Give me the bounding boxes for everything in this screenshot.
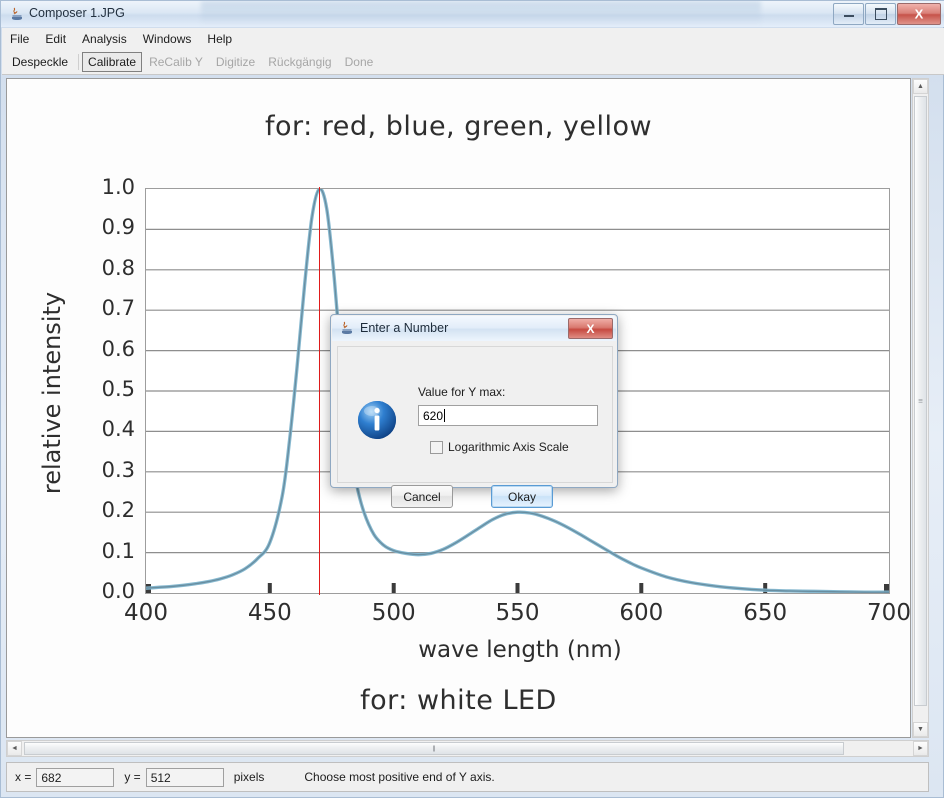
window-titlebar[interactable]: Composer 1.JPG X — [1, 1, 944, 27]
y-tick-label: 0.2 — [89, 498, 135, 522]
window-controls: X — [832, 3, 941, 24]
info-icon — [356, 399, 398, 441]
vertical-scroll-thumb[interactable]: ≡ — [914, 96, 927, 706]
toolbar-despeckle[interactable]: Despeckle — [6, 52, 74, 72]
y-tick-label: 0.3 — [89, 458, 135, 482]
x-coord-field[interactable]: 682 — [36, 768, 114, 787]
text-caret — [444, 409, 445, 422]
toolbar-done[interactable]: Done — [339, 52, 380, 72]
cancel-button[interactable]: Cancel — [391, 485, 453, 508]
y-tick-label: 0.7 — [89, 296, 135, 320]
titlebar-glass — [201, 1, 761, 27]
menu-help[interactable]: Help — [200, 30, 239, 48]
okay-button[interactable]: Okay — [491, 485, 553, 508]
toolbar: Despeckle Calibrate ReCalib Y Digitize R… — [2, 49, 944, 75]
units-label: pixels — [234, 770, 265, 784]
scroll-left-button[interactable]: ◄ — [7, 741, 22, 756]
log-axis-checkbox[interactable] — [430, 441, 443, 454]
y-tick-label: 0.6 — [89, 337, 135, 361]
maximize-icon — [875, 8, 887, 20]
x-coord-label: x = — [15, 770, 31, 784]
vertical-scrollbar[interactable]: ▲ ≡ ▼ — [912, 78, 929, 738]
minimize-button[interactable] — [833, 3, 864, 25]
scroll-right-button[interactable]: ► — [913, 741, 928, 756]
scroll-grip-icon: ‖ — [432, 744, 435, 753]
x-tick-label: 600 — [601, 600, 681, 626]
status-bar: x = 682 y = 512 pixels Choose most posit… — [6, 762, 929, 792]
toolbar-separator — [78, 54, 79, 70]
scroll-down-button[interactable]: ▼ — [913, 722, 928, 737]
x-tick-label: 450 — [230, 600, 310, 626]
chart-title: for: red, blue, green, yellow — [7, 111, 910, 142]
y-max-input-value: 620 — [423, 409, 443, 423]
dialog-body: Value for Y max: 620 Logarithmic Axis Sc… — [337, 346, 613, 483]
log-axis-checkbox-label: Logarithmic Axis Scale — [448, 440, 569, 454]
x-axis-label: wave length (nm) — [146, 637, 894, 663]
application-window: Composer 1.JPG X File Edit Analysis Wind… — [0, 0, 944, 798]
y-tick-label: 0.8 — [89, 256, 135, 280]
menubar: File Edit Analysis Windows Help — [2, 28, 944, 50]
menu-file[interactable]: File — [3, 30, 36, 48]
window-frame: Composer 1.JPG X File Edit Analysis Wind… — [0, 0, 944, 798]
horizontal-scroll-thumb[interactable]: ‖ — [24, 742, 844, 755]
menu-edit[interactable]: Edit — [38, 30, 73, 48]
y-tick-label: 0.5 — [89, 377, 135, 401]
menu-analysis[interactable]: Analysis — [75, 30, 134, 48]
dialog-title: Enter a Number — [360, 321, 448, 335]
window-title: Composer 1.JPG — [29, 6, 125, 20]
y-coord-field[interactable]: 512 — [146, 768, 224, 787]
java-app-icon — [339, 320, 355, 336]
y-tick-label: 0.4 — [89, 417, 135, 441]
scroll-up-button[interactable]: ▲ — [913, 79, 928, 94]
y-max-input[interactable]: 620 — [418, 405, 598, 426]
minimize-icon — [844, 11, 854, 17]
status-message: Choose most positive end of Y axis. — [304, 770, 494, 784]
y-tick-label: 0.9 — [89, 215, 135, 239]
menu-windows[interactable]: Windows — [136, 30, 199, 48]
chart-caption: for: white LED — [7, 685, 910, 716]
horizontal-scrollbar[interactable]: ◄ ‖ ► — [6, 740, 929, 757]
x-tick-label: 550 — [478, 600, 558, 626]
dialog-titlebar[interactable]: Enter a Number X — [332, 316, 616, 341]
calibration-cursor-line — [319, 187, 320, 595]
x-tick-label: 700 — [849, 600, 911, 626]
y-axis-label: relative intensity — [38, 243, 66, 543]
toolbar-undo[interactable]: Rückgängig — [262, 52, 337, 72]
y-tick-label: 0.1 — [89, 539, 135, 563]
toolbar-digitize[interactable]: Digitize — [210, 52, 261, 72]
dialog-close-button[interactable]: X — [568, 318, 613, 339]
enter-number-dialog: Enter a Number X — [330, 314, 618, 488]
scroll-grip-icon: ≡ — [918, 397, 923, 406]
y-coord-label: y = — [124, 770, 140, 784]
x-tick-label: 400 — [106, 600, 186, 626]
log-axis-checkbox-row[interactable]: Logarithmic Axis Scale — [430, 440, 569, 454]
toolbar-recalib-y[interactable]: ReCalib Y — [143, 52, 209, 72]
y-tick-label: 1.0 — [89, 175, 135, 199]
toolbar-calibrate[interactable]: Calibrate — [82, 52, 142, 72]
close-icon: X — [915, 8, 924, 21]
maximize-button[interactable] — [865, 3, 896, 25]
x-tick-label: 500 — [354, 600, 434, 626]
dialog-prompt-label: Value for Y max: — [418, 385, 505, 399]
close-button[interactable]: X — [897, 3, 941, 25]
x-tick-label: 650 — [725, 600, 805, 626]
java-app-icon — [9, 6, 25, 22]
